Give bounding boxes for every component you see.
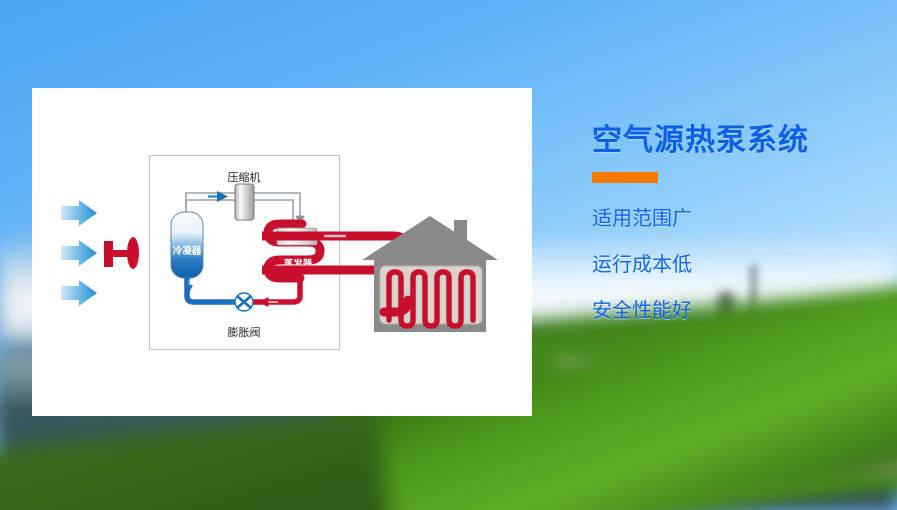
condenser-label: 冷凝器 [173,245,202,257]
airflow-arrow-1 [61,200,97,226]
fan-icon [104,237,139,269]
feature-item-1: 适用范围广 [592,209,892,229]
airflow-group [57,198,147,308]
expansion-valve-label: 膨胀阀 [228,325,261,339]
feature-list: 适用范围广 运行成本低 安全性能好 [592,209,892,321]
liquid-line-cold [187,278,238,302]
condenser-body [171,212,203,278]
airflow-arrow-3 [61,280,97,306]
expansion-valve-icon [235,293,253,311]
content-panel: 压缩机 冷凝器 [32,88,532,416]
house-heating-group [262,208,532,338]
airflow-arrow-2 [61,240,97,266]
title-underline-rule [592,172,658,183]
feature-item-2: 运行成本低 [592,255,892,275]
page-title: 空气源热泵系统 [592,124,892,157]
marketing-copy-column: 空气源热泵系统 适用范围广 运行成本低 安全性能好 [592,124,892,321]
chimney-icon [454,220,467,250]
compressor-label: 压缩机 [228,170,261,184]
slide-canvas: 压缩机 冷凝器 [0,0,897,510]
feature-item-3: 安全性能好 [592,301,892,321]
compressor-body [235,184,254,220]
